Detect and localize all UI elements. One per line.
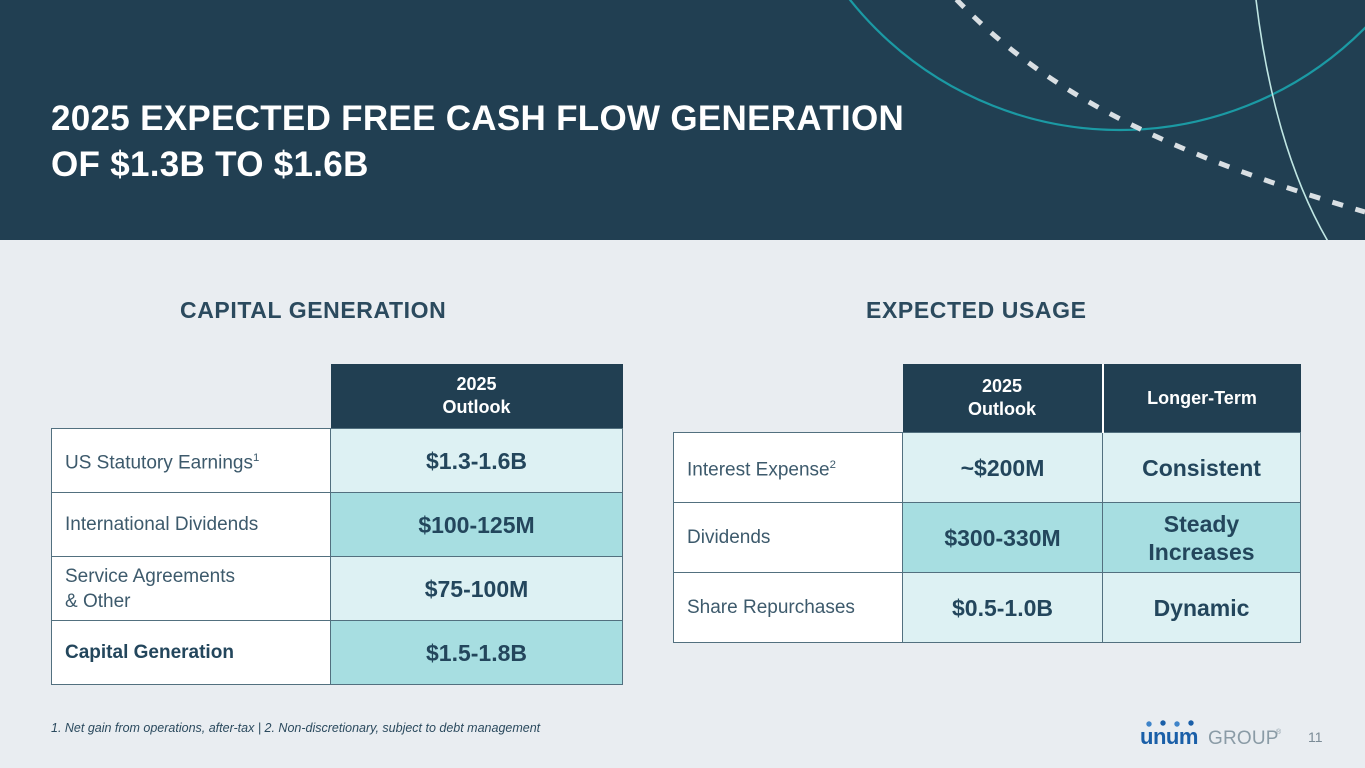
cell-longer-term: Steady Increases bbox=[1103, 503, 1301, 573]
cell-2025-outlook: $1.5-1.8B bbox=[331, 621, 623, 685]
cell-2025-outlook: $75-100M bbox=[331, 557, 623, 621]
row-label: Share Repurchases bbox=[674, 573, 903, 643]
footnote-marker: 2 bbox=[830, 459, 836, 471]
table-corner-spacer bbox=[52, 364, 331, 429]
slide-title: 2025 EXPECTED FREE CASH FLOW GENERATION … bbox=[51, 96, 904, 188]
unum-group-logo: unum GROUP ® bbox=[1136, 718, 1288, 750]
cell-2025-outlook: $0.5-1.0B bbox=[903, 573, 1103, 643]
footnote-text: 1. Net gain from operations, after-tax |… bbox=[51, 721, 540, 735]
footnote-marker: 1 bbox=[253, 452, 259, 464]
logo-primary-text: unum bbox=[1140, 724, 1198, 749]
cell-longer-term: Consistent bbox=[1103, 433, 1301, 503]
table-row: Share Repurchases$0.5-1.0BDynamic bbox=[674, 573, 1301, 643]
page-number: 11 bbox=[1308, 729, 1323, 745]
section-heading-capital-generation: CAPITAL GENERATION bbox=[180, 297, 446, 324]
table-row: US Statutory Earnings1$1.3-1.6B bbox=[52, 429, 623, 493]
pale-arc-icon bbox=[1252, 0, 1345, 240]
slide-header-band: 2025 EXPECTED FREE CASH FLOW GENERATION … bbox=[0, 0, 1365, 240]
column-header-2025-outlook: 2025 Outlook bbox=[903, 364, 1103, 433]
row-label: International Dividends bbox=[52, 493, 331, 557]
column-header-2025-outlook: 2025 Outlook bbox=[331, 364, 623, 429]
row-label: Interest Expense2 bbox=[674, 433, 903, 503]
table-header-row: 2025 Outlook bbox=[52, 364, 623, 429]
row-label: Dividends bbox=[674, 503, 903, 573]
table-row: Interest Expense2~$200MConsistent bbox=[674, 433, 1301, 503]
table-capital-generation: 2025 Outlook US Statutory Earnings1$1.3-… bbox=[51, 364, 623, 685]
cell-longer-term: Dynamic bbox=[1103, 573, 1301, 643]
logo-secondary-text: GROUP bbox=[1208, 728, 1279, 749]
logo-trademark-icon: ® bbox=[1276, 728, 1282, 736]
table-expected-usage: 2025 Outlook Longer-Term Interest Expens… bbox=[673, 364, 1301, 643]
dashed-curve-icon bbox=[940, 0, 1365, 212]
cell-2025-outlook: $1.3-1.6B bbox=[331, 429, 623, 493]
cell-2025-outlook: ~$200M bbox=[903, 433, 1103, 503]
table-header-row: 2025 Outlook Longer-Term bbox=[674, 364, 1301, 433]
cell-2025-outlook: $300-330M bbox=[903, 503, 1103, 573]
table-row: International Dividends$100-125M bbox=[52, 493, 623, 557]
table-row: Dividends$300-330MSteady Increases bbox=[674, 503, 1301, 573]
row-label: Capital Generation bbox=[52, 621, 331, 685]
row-label: Service Agreements & Other bbox=[52, 557, 331, 621]
row-label: US Statutory Earnings1 bbox=[52, 429, 331, 493]
cell-2025-outlook: $100-125M bbox=[331, 493, 623, 557]
column-header-longer-term: Longer-Term bbox=[1103, 364, 1301, 433]
table-corner-spacer bbox=[674, 364, 903, 433]
section-heading-expected-usage: EXPECTED USAGE bbox=[866, 297, 1087, 324]
table-row: Service Agreements & Other$75-100M bbox=[52, 557, 623, 621]
table-row: Capital Generation$1.5-1.8B bbox=[52, 621, 623, 685]
